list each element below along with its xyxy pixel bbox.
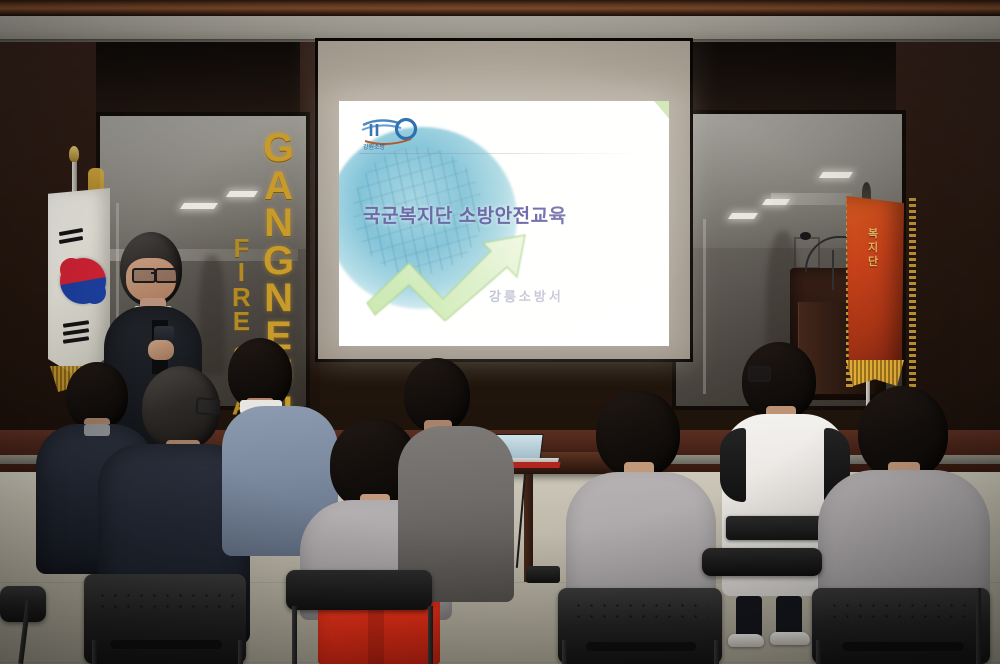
shoe <box>770 632 810 645</box>
power-adapter <box>526 566 560 583</box>
chair[interactable] <box>812 588 990 664</box>
crown-molding <box>0 0 1000 16</box>
light-reflection <box>180 203 218 209</box>
slide-subtitle: 강릉소방서 <box>489 286 564 305</box>
flag-silhouette-reflection <box>199 255 225 375</box>
unit-banner-flag <box>844 196 904 374</box>
eyeglasses-icon <box>195 397 220 416</box>
chair[interactable] <box>286 570 432 610</box>
trouser-leg <box>736 596 762 638</box>
chair-leg <box>976 588 981 664</box>
chair-leg <box>714 640 719 664</box>
chair-handle-slot <box>586 642 696 651</box>
microphone-stand <box>832 250 834 290</box>
banner-inscription: 복 지 단 <box>864 228 882 269</box>
chair-handle-slot <box>110 640 222 649</box>
chair-perforation <box>96 590 234 612</box>
banner-char: 지 <box>864 242 882 256</box>
light-reflection <box>728 213 758 219</box>
chair[interactable] <box>702 548 822 576</box>
microphone-head-icon <box>800 232 811 240</box>
chair-leg <box>816 640 821 664</box>
chair-handle-slot <box>842 642 964 651</box>
chair-leg <box>92 640 97 664</box>
banner-char: 단 <box>864 256 882 270</box>
presentation-slide: 강원소방 국군복지단 소방안전교육 강릉소방서 <box>339 101 669 346</box>
ceiling-reflection <box>100 116 306 249</box>
eyeglasses-bridge <box>151 272 157 274</box>
emblem-sublabel: 강원소방 <box>363 143 386 151</box>
eyeglasses-icon <box>155 268 178 283</box>
chair-perforation <box>572 600 708 620</box>
banner-char: 복 <box>864 228 882 242</box>
eyeglasses-icon <box>132 268 156 283</box>
flagpole-finial-icon <box>69 146 79 162</box>
light-reflection <box>226 191 258 197</box>
reflection-edge <box>703 219 706 394</box>
chair[interactable] <box>84 574 246 664</box>
attendee-collar <box>84 424 110 436</box>
chair-leg <box>238 640 243 664</box>
chair-leg <box>428 606 433 664</box>
eyeglasses-icon <box>748 366 771 382</box>
shoe <box>728 634 764 647</box>
chair[interactable] <box>558 588 722 664</box>
emblem-119-icon: 강원소방 <box>359 115 431 151</box>
light-reflection <box>819 172 853 178</box>
presenter-hand <box>148 340 174 360</box>
polo-shoulder-panel <box>720 428 746 502</box>
growth-arrow-icon <box>365 229 557 321</box>
wall-panel-far-right <box>960 42 1000 472</box>
chair-leg <box>292 606 297 664</box>
chair-leg <box>562 640 567 664</box>
chair-perforation <box>828 600 976 620</box>
slide-divider <box>359 153 649 154</box>
slide-title: 국군복지단 소방안전교육 <box>363 201 655 228</box>
auditorium-scene: G A N G N E U N G F I R E S T A <box>0 0 1000 664</box>
projection-screen: 강원소방 국군복지단 소방안전교육 강릉소방서 <box>315 38 693 362</box>
